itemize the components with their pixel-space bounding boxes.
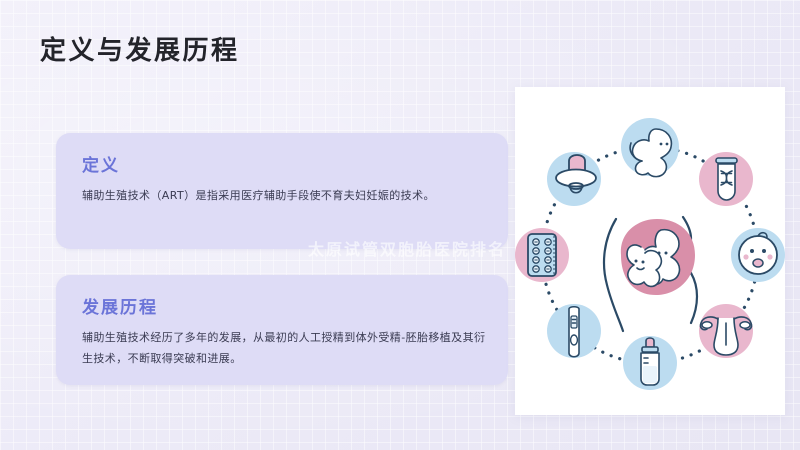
- card-definition-heading: 定义: [82, 151, 120, 176]
- fetus-icon: [621, 118, 679, 177]
- baby-face-icon: [731, 228, 785, 282]
- illustration-panel: .ln{fill:none;stroke:#2b4a66;stroke-widt…: [515, 87, 785, 415]
- uterus-icon: [699, 304, 753, 358]
- card-definition-body: 辅助生殖技术（ART）是指采用医疗辅助手段使不育夫妇妊娠的技术。: [82, 185, 488, 206]
- pregnant-belly-with-twins-illustration: [604, 217, 697, 331]
- card-history-body: 辅助生殖技术经历了多年的发展，从最初的人工授精到体外受精-胚胎移植及其衍生技术，…: [82, 327, 488, 369]
- card-definition: 定义 辅助生殖技术（ART）是指采用医疗辅助手段使不育夫妇妊娠的技术。: [56, 133, 508, 249]
- card-history-heading: 发展历程: [82, 293, 158, 318]
- pregnancy-test-icon: [547, 304, 601, 358]
- pill-blister-icon: [515, 228, 569, 282]
- card-history: 发展历程 辅助生殖技术经历了多年的发展，从最初的人工授精到体外受精-胚胎移植及其…: [56, 275, 508, 385]
- pacifier-icon: [547, 152, 601, 206]
- slide-canvas: 定义与发展历程 定义 辅助生殖技术（ART）是指采用医疗辅助手段使不育夫妇妊娠的…: [0, 0, 800, 450]
- page-title: 定义与发展历程: [40, 30, 240, 67]
- test-tube-dna-icon: [699, 152, 753, 206]
- baby-bottle-icon: [623, 336, 677, 390]
